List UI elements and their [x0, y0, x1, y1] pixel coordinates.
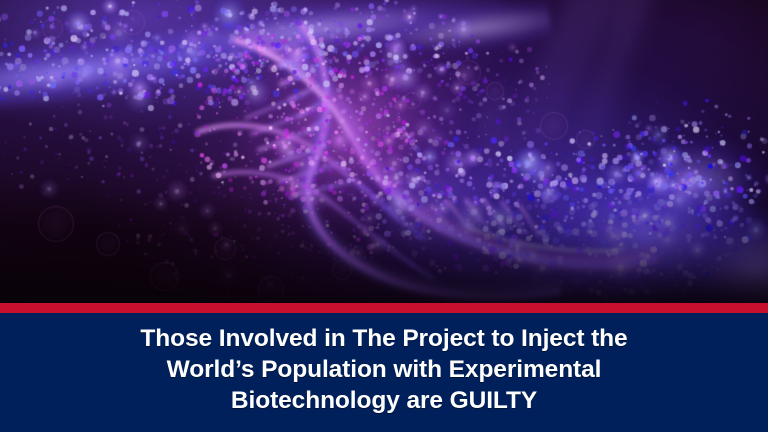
red-divider-bar — [0, 303, 768, 313]
dna-helix-icon — [0, 0, 768, 303]
caption-line-3: Biotechnology are GUILTY — [26, 385, 742, 416]
hero-image — [0, 0, 768, 303]
caption-line-1: Those Involved in The Project to Inject … — [26, 323, 742, 354]
caption-band: Those Involved in The Project to Inject … — [0, 313, 768, 432]
caption-line-2: World’s Population with Experimental — [26, 354, 742, 385]
poster-image: Those Involved in The Project to Inject … — [0, 0, 768, 432]
